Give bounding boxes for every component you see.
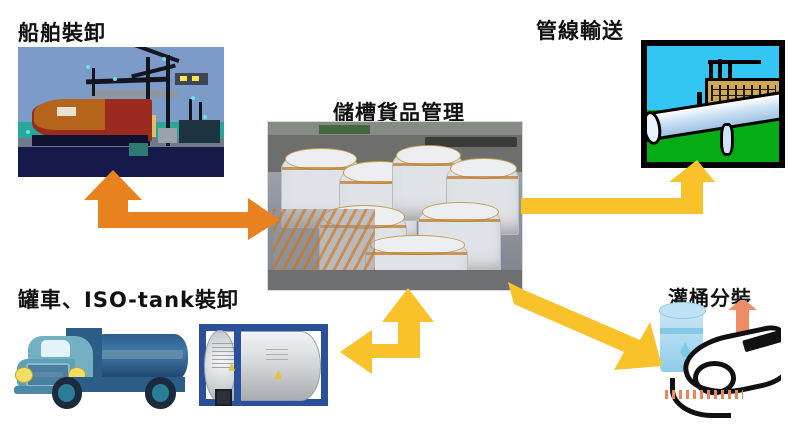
- crane-operator-cab: [175, 73, 208, 85]
- pipeline-stack-header: [708, 60, 761, 64]
- dock-box: [158, 128, 177, 144]
- truck-rear-wheel: [145, 377, 176, 408]
- truck-tank-highlight: [97, 350, 183, 358]
- dock-light-2: [113, 77, 117, 81]
- arrow-tanks-to-truck: [338, 288, 474, 384]
- arrow-tanks-to-drum: [508, 278, 668, 382]
- iso-tank-post: [234, 324, 241, 407]
- iso-tank-valve-box: [215, 389, 233, 406]
- gantry-beam: [90, 90, 177, 98]
- arrow-tanks-to-pipeline: [521, 160, 717, 222]
- pipeline-pipe-joint: [720, 123, 734, 157]
- tankfarm-green-roof: [319, 125, 370, 133]
- dock-structure: [179, 120, 220, 143]
- drum-filling-clipart: [655, 300, 781, 418]
- iso-tank-data-plate-2: [266, 349, 288, 361]
- label-ship-loading: 船舶裝卸: [18, 17, 106, 47]
- label-pipeline-transport: 管線輸送: [536, 15, 624, 45]
- ship-mast-fore: [92, 68, 95, 97]
- dock-bollard: [129, 143, 148, 156]
- diagram-canvas: 船舶裝卸 儲槽貨品管理 管線輸送 罐車、ISO-tank裝卸 灌桶分裝: [0, 0, 800, 427]
- truck-windshield: [41, 340, 70, 357]
- truck-headlight-left: [15, 367, 33, 383]
- iso-tank-container-photo: [196, 318, 331, 414]
- tanker-truck-clipart: [12, 313, 192, 417]
- arrow-ship-to-tanks: [82, 168, 282, 240]
- iso-tank-data-plate-1: [212, 343, 234, 368]
- storage-tank-farm-photo: [268, 122, 522, 290]
- truck-front-wheel: [52, 377, 83, 408]
- label-tanker-truck-iso-tank: 罐車、ISO-tank裝卸: [18, 284, 239, 314]
- drum-barcode-accent: [665, 390, 743, 399]
- ship-hull-marking: [57, 107, 76, 116]
- tankfarm-ground: [268, 270, 522, 290]
- ship-loading-photo: [18, 47, 224, 177]
- pipeline-clipart: [641, 40, 785, 168]
